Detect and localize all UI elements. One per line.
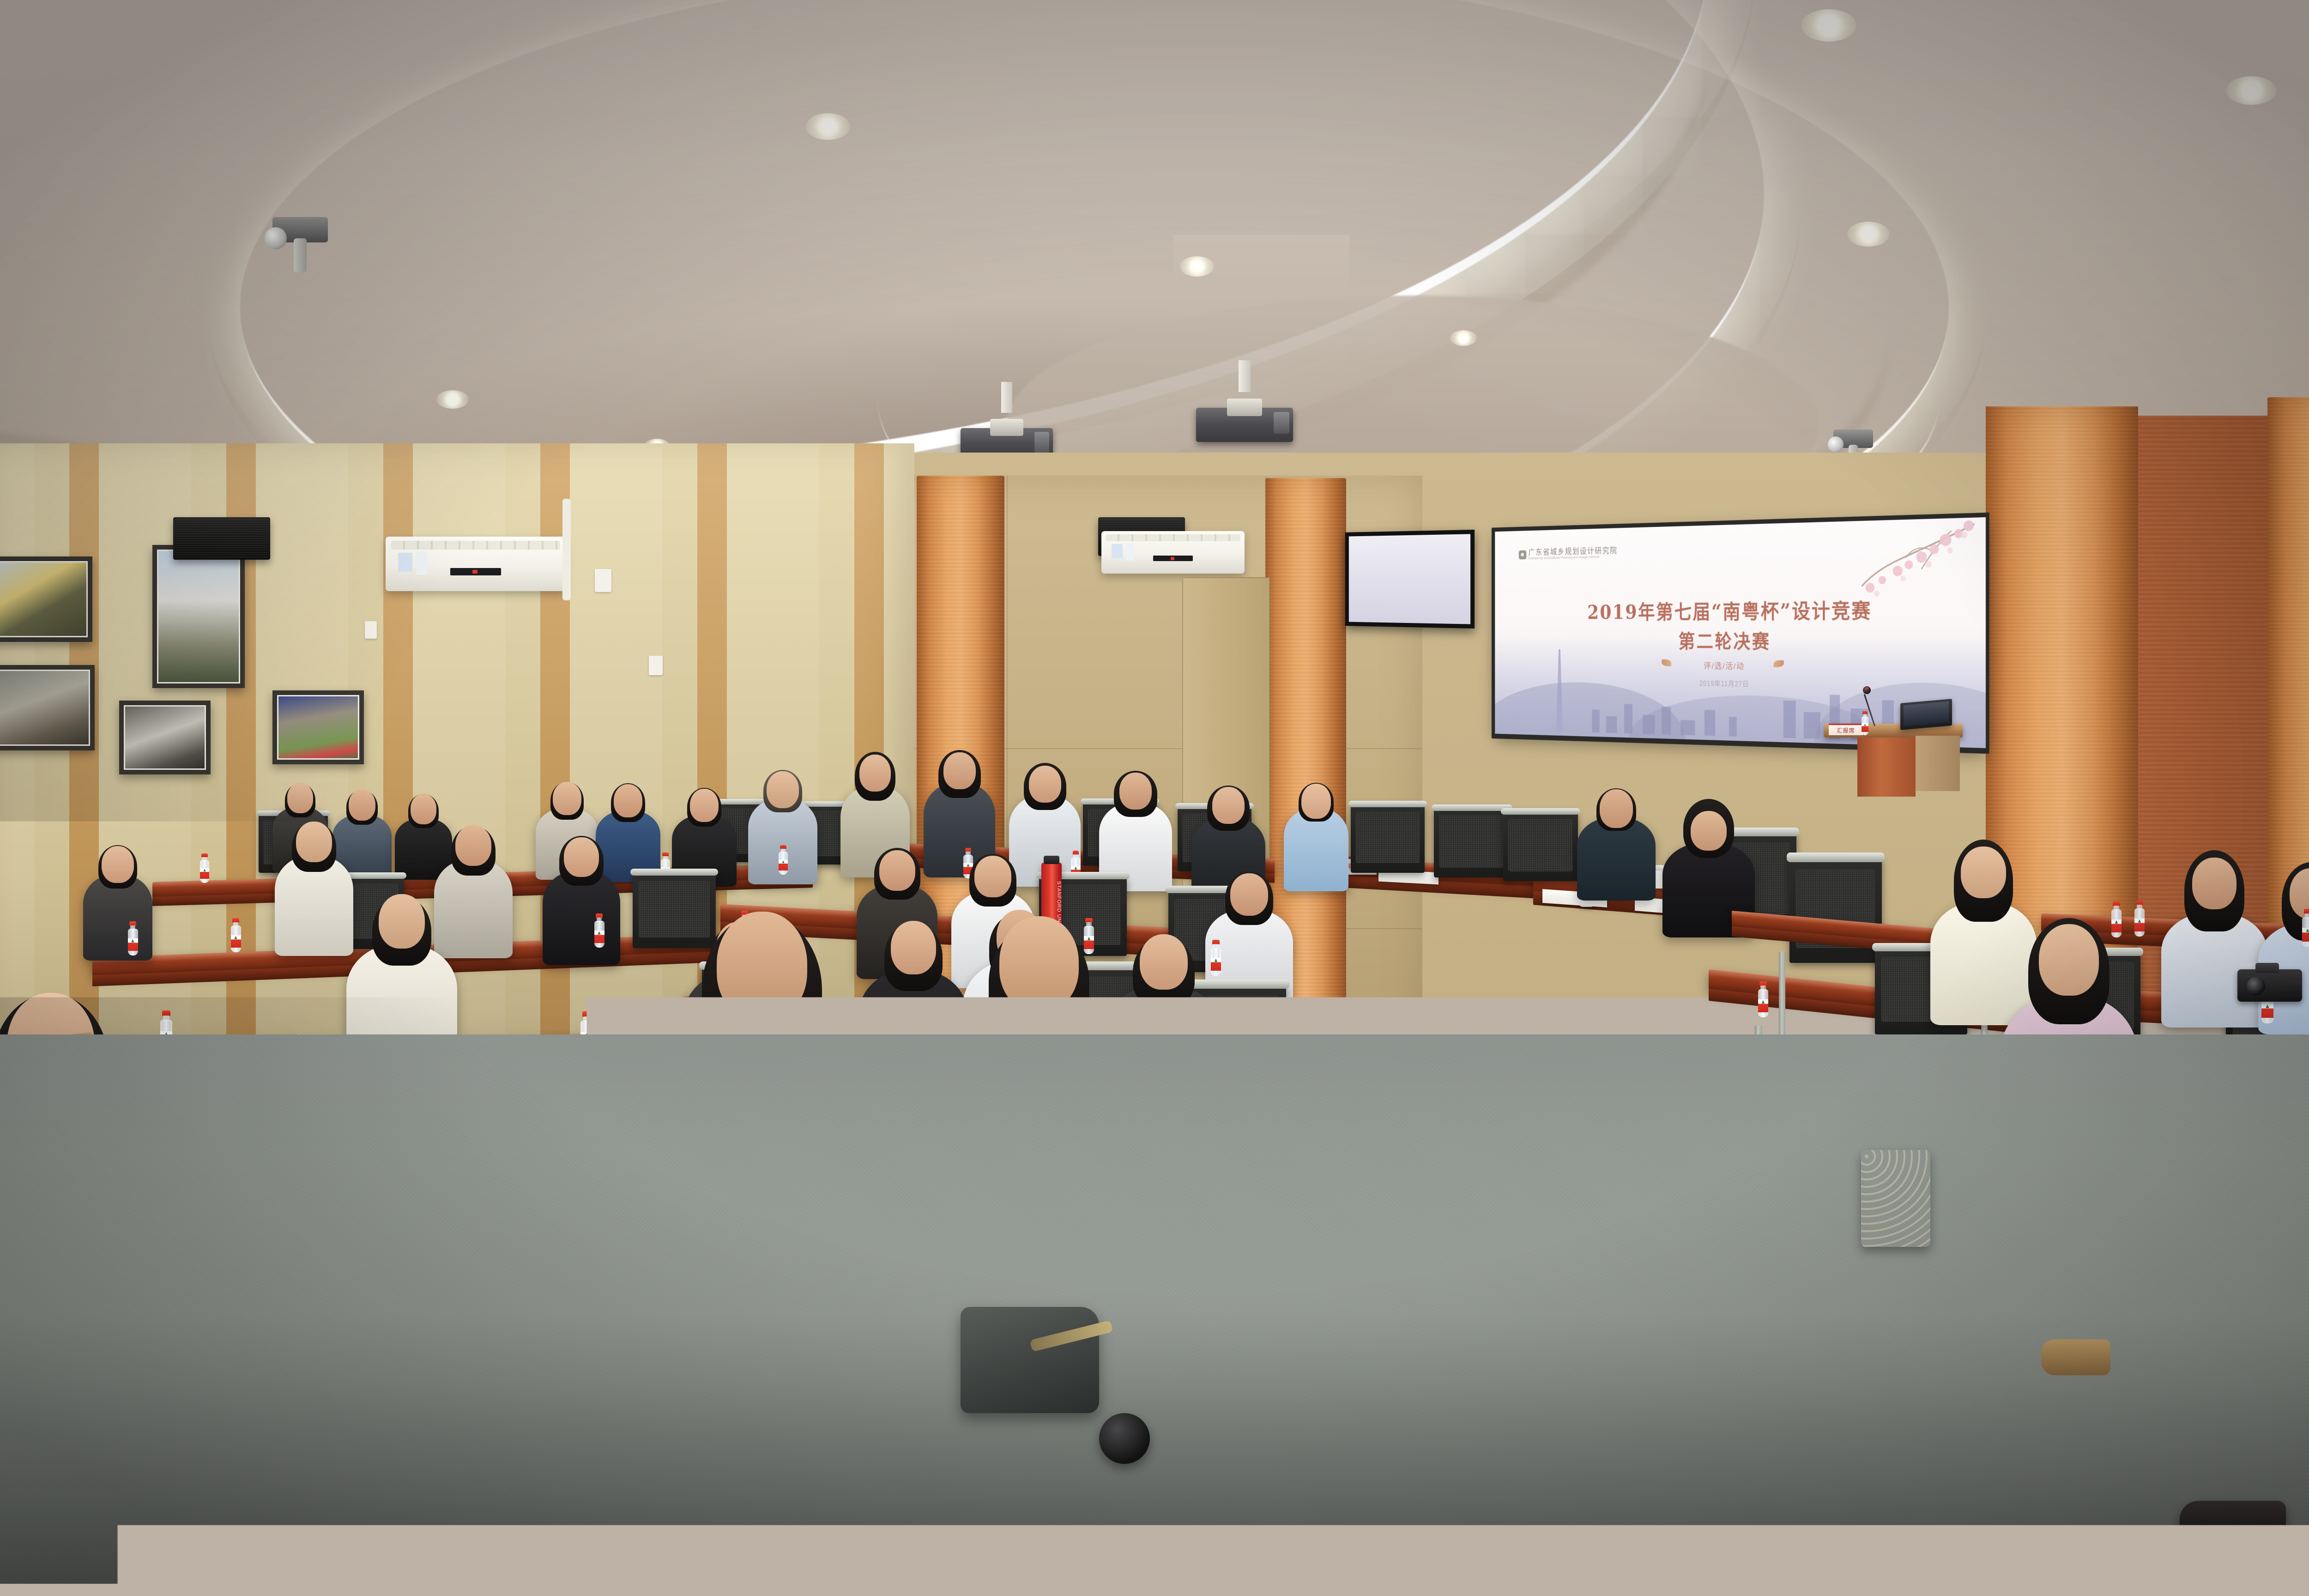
air-conditioner-right	[1101, 531, 1245, 574]
audience-person	[543, 813, 620, 965]
water-bottle	[593, 913, 605, 948]
downlight	[1801, 9, 1856, 42]
wall-switch-plate	[595, 569, 611, 592]
ac-pipe	[562, 499, 571, 600]
ceiling-camera-icon	[272, 217, 328, 272]
judge-person	[1577, 767, 1656, 901]
office-chair	[1503, 811, 1578, 881]
wall-switch-plate	[649, 656, 663, 675]
slide-building	[1729, 717, 1737, 737]
wall-photo-frame	[272, 690, 364, 764]
side-monitor	[1345, 530, 1475, 629]
podium-microphone-icon	[1874, 693, 1876, 726]
wall-photo-frame	[152, 545, 245, 688]
conference-room-photo: 广东省城乡规划设计研究院 Guangdong Urban&Rural Plann…	[0, 0, 2309, 1596]
slide-title-line2: 第二轮决赛	[1495, 626, 1986, 655]
institute-logo: 广东省城乡规划设计研究院 Guangdong Urban&Rural Plann…	[1519, 547, 1618, 560]
downlight	[1180, 256, 1214, 277]
water-bottle	[2110, 901, 2122, 937]
slide-building	[1606, 716, 1617, 733]
institute-logo-mark-icon	[1519, 550, 1526, 559]
air-conditioner-left	[386, 537, 566, 591]
judge-person	[1284, 757, 1348, 891]
downlight	[806, 113, 850, 140]
water-bottle	[199, 853, 210, 883]
wall-switch-plate	[365, 621, 377, 639]
downlight	[1847, 222, 1890, 247]
slide-building	[1680, 720, 1695, 735]
office-chair	[1434, 807, 1510, 877]
slide-building	[1643, 715, 1655, 734]
water-bottle	[230, 918, 242, 952]
wall-speaker-icon	[173, 517, 270, 560]
slide-building	[1624, 704, 1632, 733]
downlight	[436, 390, 469, 409]
slide-building	[1662, 707, 1671, 735]
water-bottle	[2301, 909, 2309, 947]
floor-vignette	[0, 1034, 2309, 1596]
wall-photo-frame	[0, 556, 92, 642]
podium-nameplate: 汇报席	[1829, 724, 1863, 735]
chair-caster-icon	[1099, 1413, 1150, 1464]
downlight	[1450, 330, 1477, 346]
slide-building	[1783, 701, 1795, 738]
slide-building	[1804, 712, 1820, 739]
water-bottle	[2134, 901, 2146, 937]
podium-laptop	[1900, 699, 1952, 730]
handbag	[1861, 1150, 1930, 1247]
slide-building	[1705, 710, 1715, 736]
water-bottle	[1861, 711, 1869, 735]
ceiling-projector-icon	[1196, 390, 1293, 442]
shoe	[2041, 1339, 2110, 1375]
downlight	[2226, 76, 2277, 105]
shoe	[2180, 1501, 2286, 1552]
office-chair	[1351, 804, 1425, 873]
slide-title-line1: 2019年第七届“南粤杯”设计竞赛	[1495, 593, 1986, 625]
water-bottle	[1757, 981, 1769, 1017]
wall-photo-frame	[0, 665, 95, 750]
dslr-camera-icon	[2237, 963, 2302, 1002]
audience-person	[275, 794, 353, 956]
bag-on-floor	[961, 1307, 1099, 1413]
slide-building	[1592, 709, 1600, 732]
wall-photo-frame	[119, 701, 211, 774]
